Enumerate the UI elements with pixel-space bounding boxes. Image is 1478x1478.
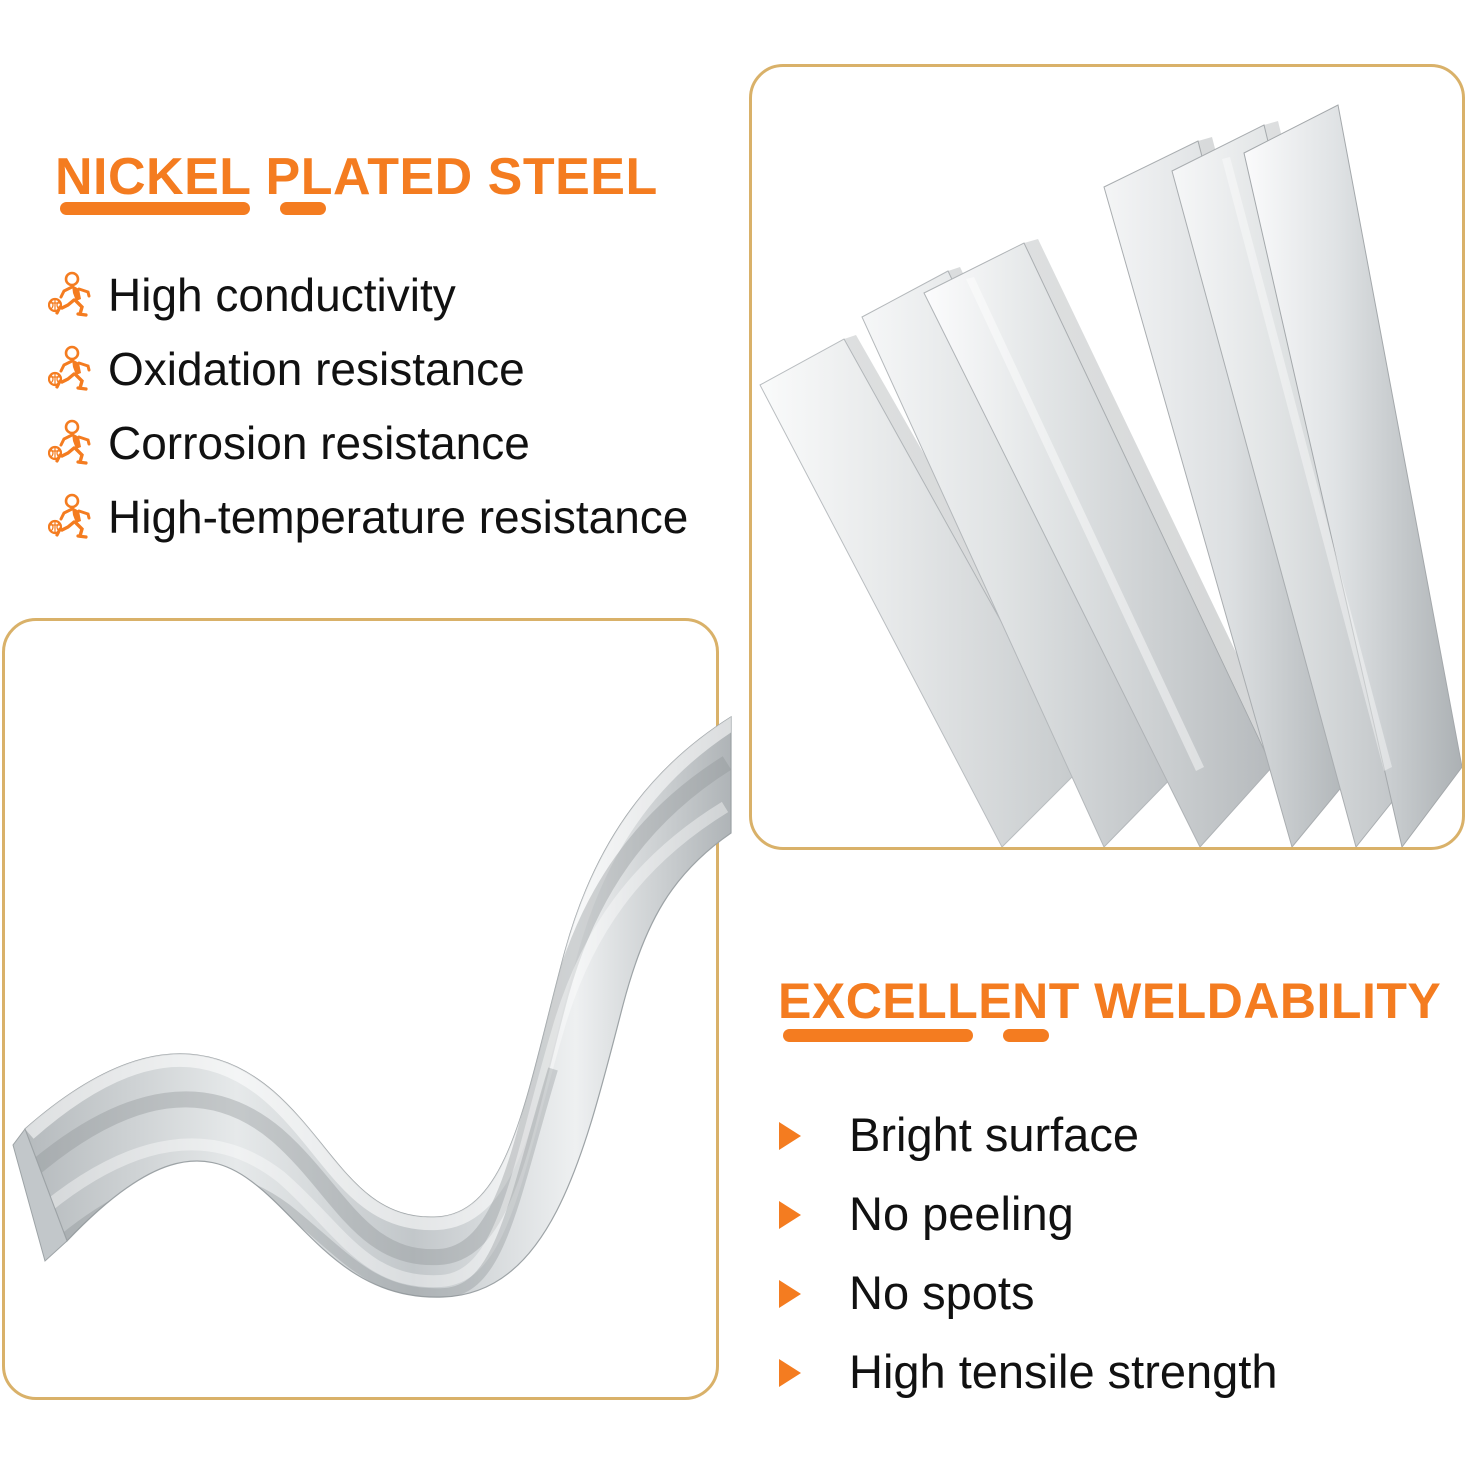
triangle-right-icon — [779, 1122, 823, 1150]
photo-panel-bent-strip: Single nickel plated steel strip bent in… — [2, 618, 719, 1400]
running-basketball-player-icon — [48, 345, 94, 393]
feature-label: Bright surface — [849, 1111, 1139, 1158]
running-basketball-player-icon — [48, 419, 94, 467]
feature-label: Oxidation resistance — [108, 346, 525, 392]
triangle-right-icon — [779, 1280, 823, 1308]
feature-label: High tensile strength — [849, 1348, 1277, 1395]
list-item: High-temperature resistance — [48, 480, 688, 554]
feature-list-nickel-plated-steel: High conductivity Oxidation resistance — [48, 258, 688, 554]
divider-bar-short — [280, 202, 326, 215]
section-title-excellent-weldability: EXCELLENT WELDABILITY — [778, 972, 1441, 1030]
list-item: Bright surface — [779, 1095, 1277, 1174]
divider-bar-short — [1003, 1029, 1049, 1042]
photo-panel-strip-bundle: Five nickel plated steel strips fanned o… — [749, 64, 1465, 850]
list-item: Oxidation resistance — [48, 332, 688, 406]
bent-strip-image — [5, 621, 765, 1401]
triangle-right-icon — [779, 1201, 823, 1229]
list-item: High tensile strength — [779, 1332, 1277, 1411]
feature-label: No peeling — [849, 1190, 1074, 1237]
section-divider-nickel-plated-steel — [60, 202, 326, 215]
list-item: No peeling — [779, 1174, 1277, 1253]
list-item: High conductivity — [48, 258, 688, 332]
divider-bar-gap — [973, 1035, 1003, 1036]
feature-label: No spots — [849, 1269, 1034, 1316]
divider-bar-long — [783, 1029, 973, 1042]
running-basketball-player-icon — [48, 493, 94, 541]
divider-bar-gap — [250, 208, 280, 209]
infographic-page: Five nickel plated steel strips fanned o… — [0, 0, 1478, 1478]
feature-label: Corrosion resistance — [108, 420, 530, 466]
running-basketball-player-icon — [48, 271, 94, 319]
list-item: Corrosion resistance — [48, 406, 688, 480]
strip-bundle-image — [752, 67, 1462, 847]
feature-list-excellent-weldability: Bright surface No peeling No spots High … — [779, 1095, 1277, 1411]
list-item: No spots — [779, 1253, 1277, 1332]
feature-label: High conductivity — [108, 272, 456, 318]
photo-clip-bent-strip — [5, 621, 716, 1397]
section-title-nickel-plated-steel: NICKEL PLATED STEEL — [55, 147, 658, 207]
triangle-right-icon — [779, 1359, 823, 1387]
divider-bar-long — [60, 202, 250, 215]
section-divider-excellent-weldability — [783, 1029, 1049, 1042]
feature-label: High-temperature resistance — [108, 494, 688, 540]
photo-clip-strip-bundle — [752, 67, 1462, 847]
